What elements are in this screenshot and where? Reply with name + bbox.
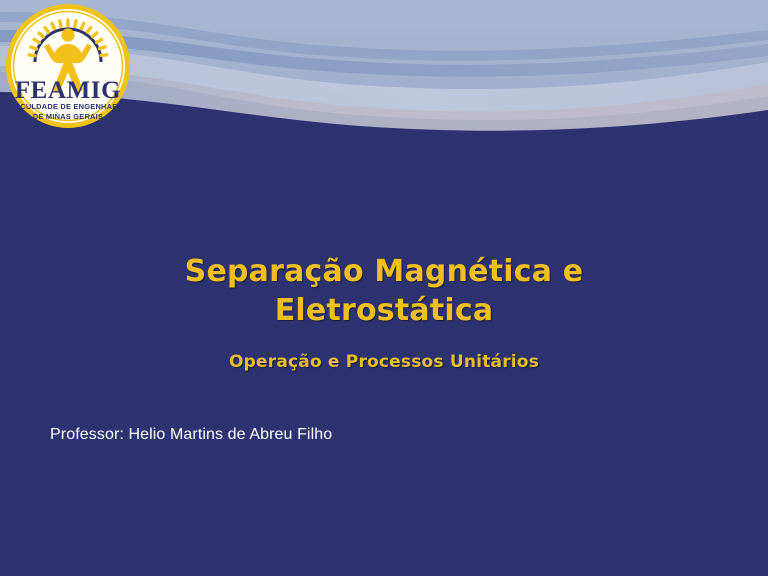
- feamig-logo-graphic: FEAMIG FACULDADE DE ENGENHARIA DE MINAS …: [4, 2, 132, 130]
- slide-subtitle: Operação e Processos Unitários: [0, 352, 768, 372]
- feamig-logo: FEAMIG FACULDADE DE ENGENHARIA DE MINAS …: [4, 2, 132, 130]
- slide-title-line-1: Separação Magnética e: [0, 252, 768, 291]
- logo-tagline-line-2: DE MINAS GERAIS: [33, 112, 103, 121]
- presenter-name: Professor: Helio Martins de Abreu Filho: [50, 426, 332, 444]
- presentation-slide: FEAMIG FACULDADE DE ENGENHARIA DE MINAS …: [0, 0, 768, 576]
- logo-acronym: FEAMIG: [15, 77, 121, 104]
- slide-title-line-2: Eletrostática: [0, 291, 768, 330]
- logo-tagline-line-1: FACULDADE DE ENGENHARIA: [10, 102, 126, 111]
- slide-title: Separação Magnética e Eletrostática: [0, 252, 768, 330]
